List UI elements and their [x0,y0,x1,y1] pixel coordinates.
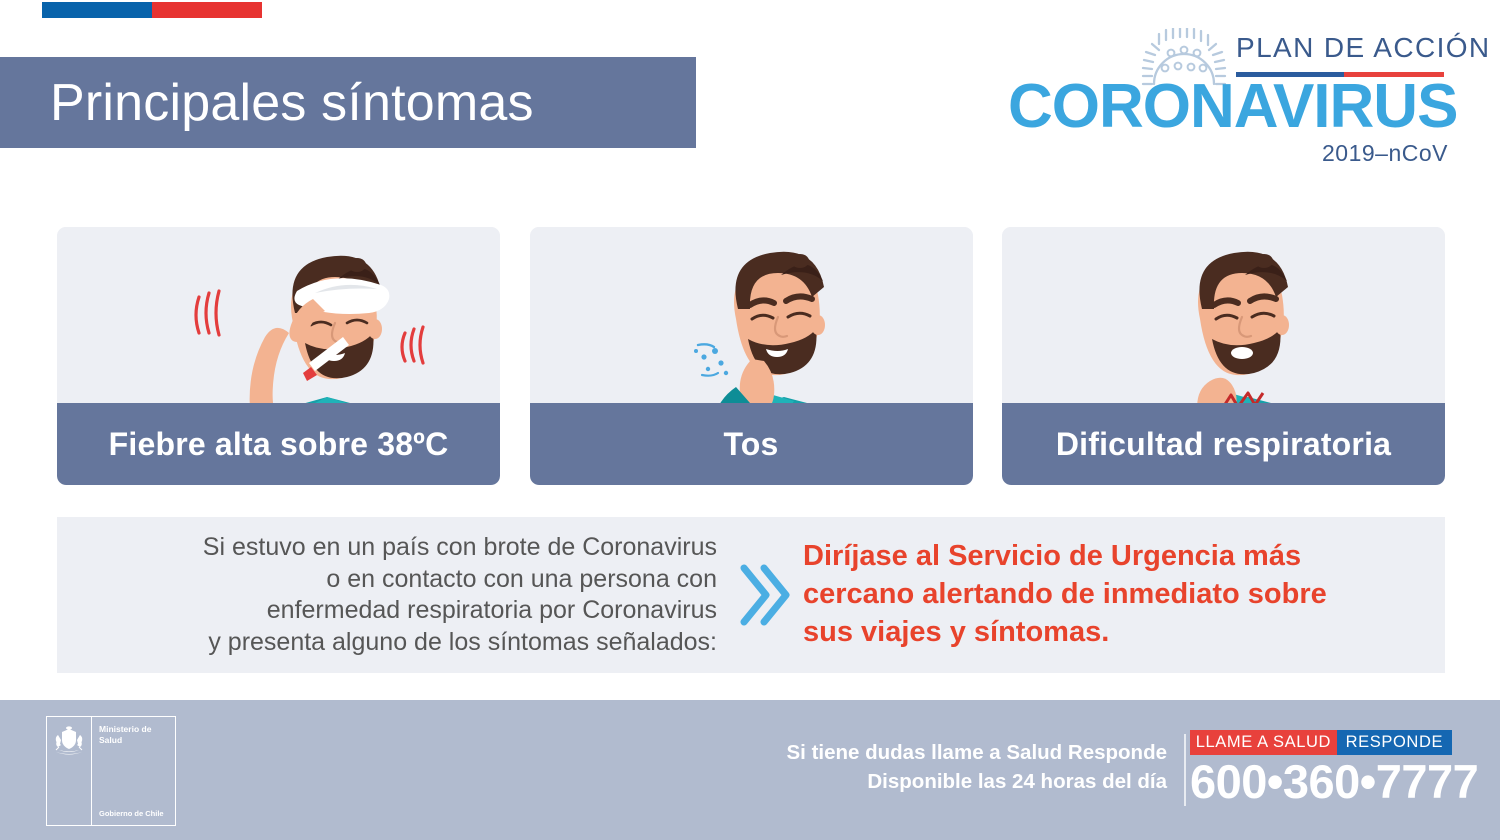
government-label: Gobierno de Chile [99,809,164,818]
condition-line: enfermedad respiratoria por Coronavirus [57,595,717,627]
chile-flag-bar [42,2,262,18]
double-chevron-right-icon [725,562,803,628]
footer-message-line-2: Disponible las 24 horas del día [737,767,1167,796]
action-line: sus viajes y síntomas. [803,614,1425,652]
footer: Ministerio de Salud Gobierno de Chile Si… [0,700,1500,840]
action-line: Diríjase al Servicio de Urgencia más [803,538,1425,576]
footer-message: Si tiene dudas llame a Salud Responde Di… [737,738,1167,796]
phone-number[interactable]: 600•360•7777 [1190,758,1452,805]
condition-text: Si estuvo en un país con brote de Corona… [57,532,725,658]
ministry-text: Ministerio de Salud Gobierno de Chile [92,717,175,825]
salud-responde-block[interactable]: LLAME A SALUD RESPONDE 600•360•7777 [1190,730,1452,805]
symptom-card-fever[interactable]: Fiebre alta sobre 38ºC [57,227,500,485]
logo-plan-label: PLAN DE ACCIÓN [1236,32,1491,64]
instruction-panel: Si estuvo en un país con brote de Corona… [57,517,1445,673]
logo-sub-label: 2019–nCoV [1322,140,1448,167]
symptom-card-label: Tos [723,426,778,463]
symptom-label-bar: Tos [530,403,973,485]
action-text: Diríjase al Servicio de Urgencia más cer… [803,538,1445,651]
symptom-card-breathing[interactable]: Dificultad respiratoria [1002,227,1445,485]
salud-responde-badge: LLAME A SALUD RESPONDE [1190,730,1452,755]
ministry-line-1: Ministerio de [99,724,175,735]
condition-line: y presenta alguno de los síntomas señala… [57,627,717,659]
condition-line: o en contacto con una persona con [57,564,717,596]
condition-line: Si estuvo en un país con brote de Corona… [57,532,717,564]
page-title: Principales síntomas [50,77,534,129]
badge-blue-label: RESPONDE [1337,730,1452,755]
symptom-card-cough[interactable]: Tos [530,227,973,485]
infographic-page: Principales síntomas [0,0,1500,840]
symptom-label-bar: Dificultad respiratoria [1002,403,1445,485]
flag-red-stripe [152,2,262,18]
footer-message-line-1: Si tiene dudas llame a Salud Responde [737,738,1167,767]
chile-coat-of-arms-icon [47,717,92,825]
logo-main-label: CORONAVIRUS [1008,76,1457,138]
symptom-card-label: Dificultad respiratoria [1056,426,1391,463]
coronavirus-plan-logo: PLAN DE ACCIÓN CORONAVIRUS 2019–nCoV [1008,26,1448,154]
symptom-label-bar: Fiebre alta sobre 38ºC [57,403,500,485]
ministry-of-health-logo: Ministerio de Salud Gobierno de Chile [46,716,176,826]
ministry-line-2: Salud [99,735,175,746]
flag-blue-stripe [42,2,152,18]
action-line: cercano alertando de inmediato sobre [803,576,1425,614]
footer-divider [1184,734,1186,806]
badge-red-label: LLAME A SALUD [1190,730,1337,755]
symptom-card-label: Fiebre alta sobre 38ºC [109,426,449,463]
symptom-cards: Fiebre alta sobre 38ºC [57,227,1445,485]
header-bar: Principales síntomas [0,57,696,148]
